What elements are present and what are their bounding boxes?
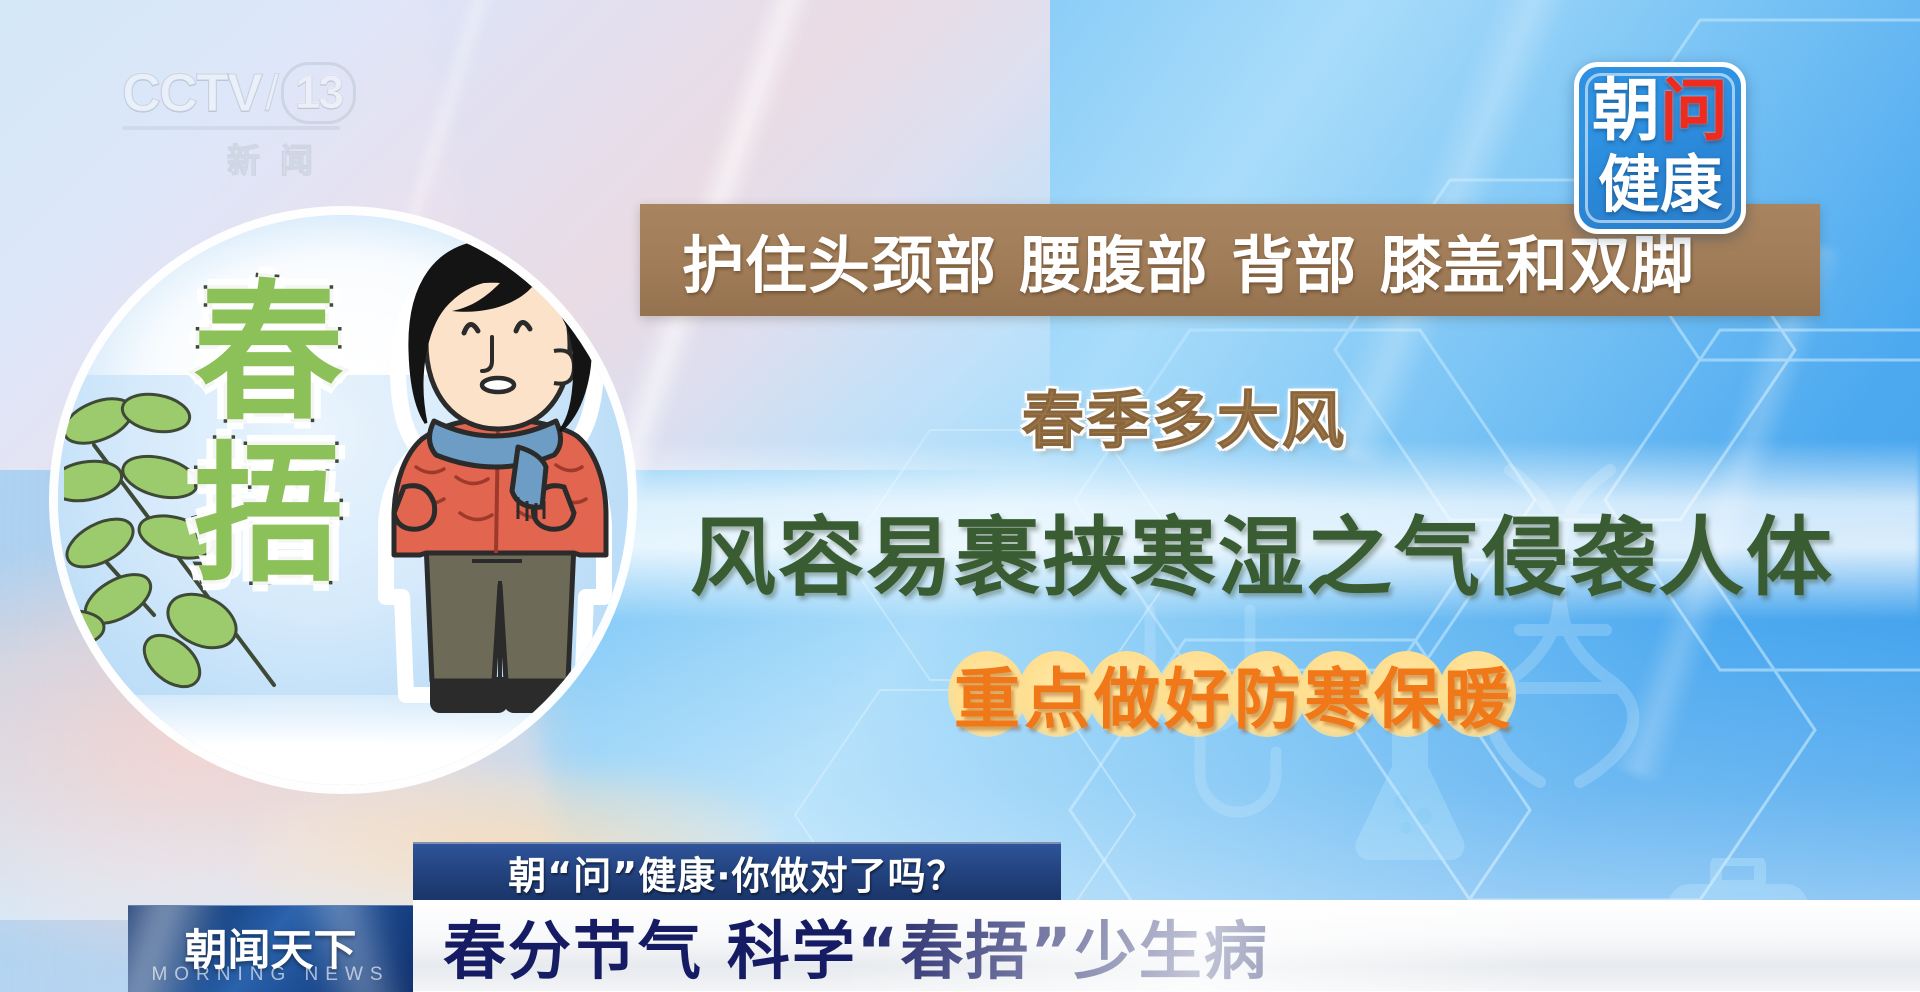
cctv-slash: /: [265, 64, 277, 122]
illustration-caption: 春捂: [178, 273, 331, 597]
highlight-char: 寒: [1302, 646, 1372, 742]
program-logo-row-top: 朝 问: [1585, 75, 1735, 148]
program-logo: 朝 问 健康: [1574, 62, 1746, 234]
program-brand-block: 朝闻天下 MORNING NEWS: [128, 905, 413, 992]
highlight-text: 重点做好防寒保暖: [952, 646, 1512, 742]
program-logo-row-bottom: 健康: [1585, 148, 1735, 221]
highlight-char: 好: [1162, 646, 1232, 742]
cartoon-person-icon: [368, 225, 628, 750]
highlight-char: 重: [952, 646, 1022, 742]
highlight-char: 保: [1372, 646, 1442, 742]
lower-third-title-text: 春分节气 科学“春捂”少生病: [443, 901, 1269, 992]
cctv-channel-number: 13: [281, 62, 356, 124]
broadcast-screen: CCTV / 13 新闻: [0, 0, 1920, 992]
cctv-brand-text: CCTV: [122, 62, 261, 124]
lower-third-subtitle-text: 朝“问”健康·你做对了吗？: [508, 845, 965, 900]
highlight-char: 防: [1232, 646, 1302, 742]
program-logo-char-wen: 问: [1660, 78, 1728, 146]
lower-third-subtitle-bar: 朝“问”健康·你做对了吗？: [413, 842, 1061, 900]
program-brand-en: MORNING NEWS: [151, 964, 389, 986]
headline-text: 风容易裹挟寒湿之气侵袭人体: [690, 487, 1834, 612]
program-logo-char-jiankang: 健康: [1598, 154, 1722, 216]
program-logo-char-zhao: 朝: [1592, 78, 1660, 146]
lower-third-title-bar: 春分节气 科学“春捂”少生病: [413, 900, 1920, 992]
subhead-text: 春季多大风: [1022, 370, 1347, 460]
cctv-sub-text: 新闻: [122, 134, 392, 182]
highlight-char: 做: [1092, 646, 1162, 742]
info-banner-text: 护住头颈部 腰腹部 背部 膝盖和双脚: [682, 215, 1695, 305]
illustration-circle: 春捂: [58, 215, 628, 785]
cctv13-watermark-icon: CCTV / 13 新闻: [122, 62, 392, 182]
highlight-char: 暖: [1442, 646, 1512, 742]
highlight-char: 点: [1022, 646, 1092, 742]
cctv-underline: [122, 126, 340, 130]
